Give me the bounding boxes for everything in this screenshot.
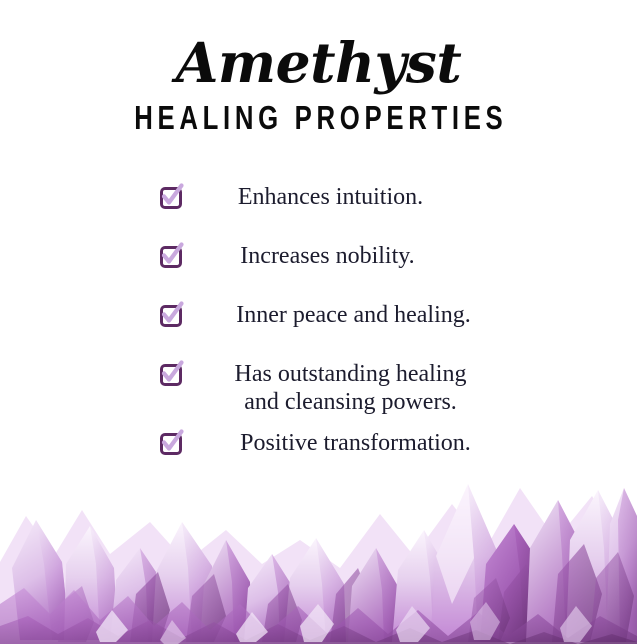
list-item: Increases nobility. <box>0 242 637 272</box>
list-item-label: Inner peace and healing. <box>200 301 637 329</box>
checked-checkbox-icon <box>160 305 182 327</box>
list-item-label: Enhances intuition. <box>200 183 637 211</box>
list-item: Enhances intuition. <box>0 183 637 213</box>
checked-checkbox-icon <box>160 364 182 386</box>
checked-checkbox-icon <box>160 187 182 209</box>
page-title: Amethyst <box>0 34 637 92</box>
list-item: Inner peace and healing. <box>0 301 637 331</box>
checked-checkbox-icon <box>160 246 182 268</box>
list-item: Has outstanding healing and cleansing po… <box>0 360 637 417</box>
poster-header: Amethyst HEALING PROPERTIES <box>0 34 637 136</box>
list-item-label: Has outstanding healing and cleansing po… <box>200 360 637 417</box>
amethyst-healing-properties-poster: Amethyst HEALING PROPERTIES Enhances int… <box>0 0 637 644</box>
list-item-label: Increases nobility. <box>200 242 637 270</box>
page-subtitle: HEALING PROPERTIES <box>70 92 567 136</box>
amethyst-crystal-cluster <box>0 444 637 644</box>
healing-properties-list: Enhances intuition. Increases nobility. … <box>0 183 637 477</box>
